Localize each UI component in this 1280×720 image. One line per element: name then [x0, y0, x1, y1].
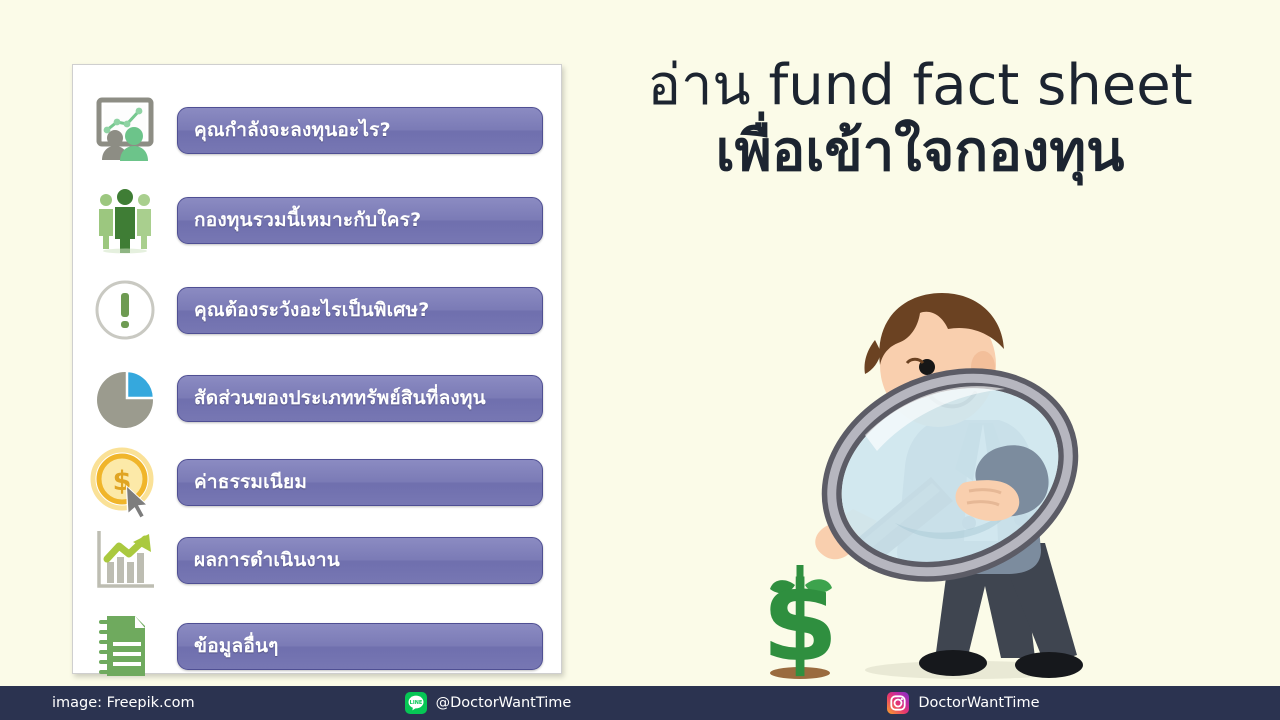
pill-label: กองทุนรวมนี้เหมาะกับใคร? — [194, 211, 421, 230]
instagram-handle: DoctorWantTime — [918, 695, 1039, 711]
headline-line-1: อ่าน fund fact sheet — [600, 55, 1240, 118]
list-item[interactable]: คุณกำลังจะลงทุนอะไร? — [73, 87, 561, 173]
image-credit: image: Freepik.com — [52, 686, 195, 720]
list-item[interactable]: คุณต้องระวังอะไรเป็นพิเศษ? — [73, 267, 561, 353]
presentation-chart-people-icon — [73, 87, 177, 173]
fund-fact-sheet-card: คุณกำลังจะลงทุนอะไร? กองทุนรวมนี้เหมาะกั… — [72, 64, 562, 674]
list-item[interactable]: สัดส่วนของประเภททรัพย์สินที่ลงทุน — [73, 355, 561, 441]
pill-button[interactable]: คุณต้องระวังอะไรเป็นพิเศษ? — [177, 287, 543, 334]
businessman-magnifier-illustration: $ — [755, 285, 1115, 685]
pill-label: ผลการดำเนินงาน — [194, 551, 340, 570]
three-people-group-icon — [73, 177, 177, 263]
pill-button[interactable]: ค่าธรรมเนียม — [177, 459, 543, 506]
line-icon: LINE — [405, 692, 427, 714]
notebook-document-icon — [73, 603, 177, 689]
pill-button[interactable]: สัดส่วนของประเภททรัพย์สินที่ลงทุน — [177, 375, 543, 422]
instagram-icon — [887, 692, 909, 714]
svg-text:LINE: LINE — [409, 700, 422, 706]
exclamation-circle-icon — [73, 267, 177, 353]
bar-chart-arrow-up-icon — [73, 517, 177, 603]
pill-label: ค่าธรรมเนียม — [194, 473, 307, 492]
pill-label: คุณต้องระวังอะไรเป็นพิเศษ? — [194, 301, 429, 320]
svg-text:$: $ — [762, 558, 839, 686]
list-item[interactable]: $ ค่าธรรมเนียม — [73, 439, 561, 525]
pill-button[interactable]: คุณกำลังจะลงทุนอะไร? — [177, 107, 543, 154]
image-credit-label: image: Freepik.com — [52, 695, 195, 711]
pill-button[interactable]: ข้อมูลอื่นๆ — [177, 623, 543, 670]
line-handle: @DoctorWantTime — [436, 695, 572, 711]
pill-label: ข้อมูลอื่นๆ — [194, 637, 279, 656]
list-item[interactable]: ข้อมูลอื่นๆ — [73, 603, 561, 689]
list-item[interactable]: ผลการดำเนินงาน — [73, 517, 561, 603]
pill-button[interactable]: ผลการดำเนินงาน — [177, 537, 543, 584]
instagram-account[interactable]: DoctorWantTime — [887, 686, 1039, 720]
list-item[interactable]: กองทุนรวมนี้เหมาะกับใคร? — [73, 177, 561, 263]
pill-label: คุณกำลังจะลงทุนอะไร? — [194, 121, 391, 140]
pie-chart-icon — [73, 355, 177, 441]
footer-bar: image: Freepik.com LINE @DoctorWantTime … — [0, 686, 1280, 720]
pill-button[interactable]: กองทุนรวมนี้เหมาะกับใคร? — [177, 197, 543, 244]
page-title: อ่าน fund fact sheet เพื่อเข้าใจกองทุน — [600, 55, 1240, 185]
line-account[interactable]: LINE @DoctorWantTime — [405, 686, 572, 720]
dollar-coin-cursor-icon: $ — [73, 439, 177, 525]
headline-line-2: เพื่อเข้าใจกองทุน — [600, 118, 1240, 185]
pill-label: สัดส่วนของประเภททรัพย์สินที่ลงทุน — [194, 389, 486, 408]
